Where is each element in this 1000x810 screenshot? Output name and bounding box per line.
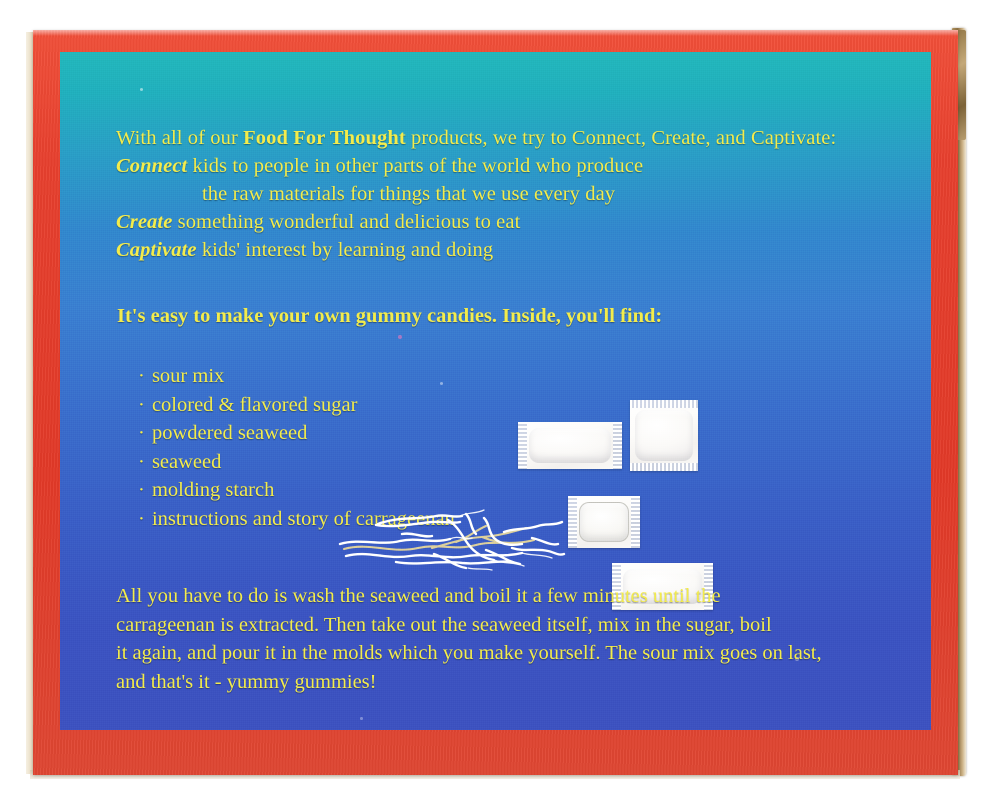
bullet-icon: · [138, 394, 147, 416]
packet-crimp-top [630, 400, 698, 408]
closing-paragraph: All you have to do is wash the seaweed a… [116, 582, 926, 696]
print-speck [360, 717, 363, 720]
intro-block: With all of our Food For Thought product… [116, 124, 916, 264]
intro-line-4: Create something wonderful and delicious… [116, 208, 916, 236]
packet-body [579, 502, 629, 542]
packet-crimp-left [518, 422, 527, 469]
packet-body [635, 410, 693, 461]
bullet-icon: · [138, 365, 147, 387]
packet-body [529, 428, 611, 463]
intro-line-2-text: kids to people in other parts of the wor… [187, 155, 643, 177]
seaweed-illustration [336, 504, 568, 572]
bullet-icon: · [138, 451, 147, 473]
packet-illustration [568, 496, 640, 548]
intro-line-1: With all of our Food For Thought product… [116, 124, 916, 152]
printed-panel: With all of our Food For Thought product… [60, 52, 931, 730]
list-item-label: seaweed [152, 451, 221, 473]
keyword-captivate: Captivate [116, 239, 197, 261]
intro-line-5-text: kids' interest by learning and doing [197, 239, 494, 261]
list-item: · sour mix [138, 362, 455, 391]
closing-line-1: All you have to do is wash the seaweed a… [116, 582, 926, 611]
packet-illustration [630, 400, 698, 471]
contents-headline: It's easy to make your own gummy candies… [117, 305, 662, 328]
carton-top-highlight [33, 30, 958, 36]
list-item: · powdered seaweed [138, 419, 455, 448]
intro-line-1-suffix: products, we try to Connect, Create, and… [406, 127, 836, 149]
print-speck [398, 335, 402, 339]
closing-line-4: and that's it - yummy gummies! [116, 668, 926, 697]
bullet-icon: · [138, 422, 147, 444]
packet-illustration [518, 422, 622, 469]
intro-line-1-prefix: With all of our [116, 127, 243, 149]
keyword-create: Create [116, 211, 172, 233]
intro-line-4-text: something wonderful and delicious to eat [172, 211, 520, 233]
intro-line-5: Captivate kids' interest by learning and… [116, 236, 916, 264]
bullet-icon: · [138, 508, 147, 530]
product-photo: With all of our Food For Thought product… [0, 0, 1000, 810]
list-item: · colored & flavored sugar [138, 391, 455, 420]
closing-line-2: carrageenan is extracted. Then take out … [116, 611, 926, 640]
list-item-label: powdered seaweed [152, 422, 307, 444]
list-item-label: sour mix [152, 365, 224, 387]
list-item: · seaweed [138, 448, 455, 477]
packet-crimp-left [568, 496, 577, 548]
packet-crimp-right [631, 496, 640, 548]
closing-line-3: it again, and pour it in the molds which… [116, 639, 926, 668]
bullet-icon: · [138, 479, 147, 501]
brand-name: Food For Thought [243, 127, 406, 149]
packet-crimp-right [613, 422, 622, 469]
keyword-connect: Connect [116, 155, 187, 177]
list-item: · molding starch [138, 476, 455, 505]
intro-line-3: the raw materials for things that we use… [116, 180, 916, 208]
intro-line-2: Connect kids to people in other parts of… [116, 152, 916, 180]
packet-crimp-bottom [630, 463, 698, 471]
list-item-label: molding starch [152, 479, 274, 501]
list-item-label: colored & flavored sugar [152, 394, 358, 416]
print-speck [140, 88, 143, 91]
